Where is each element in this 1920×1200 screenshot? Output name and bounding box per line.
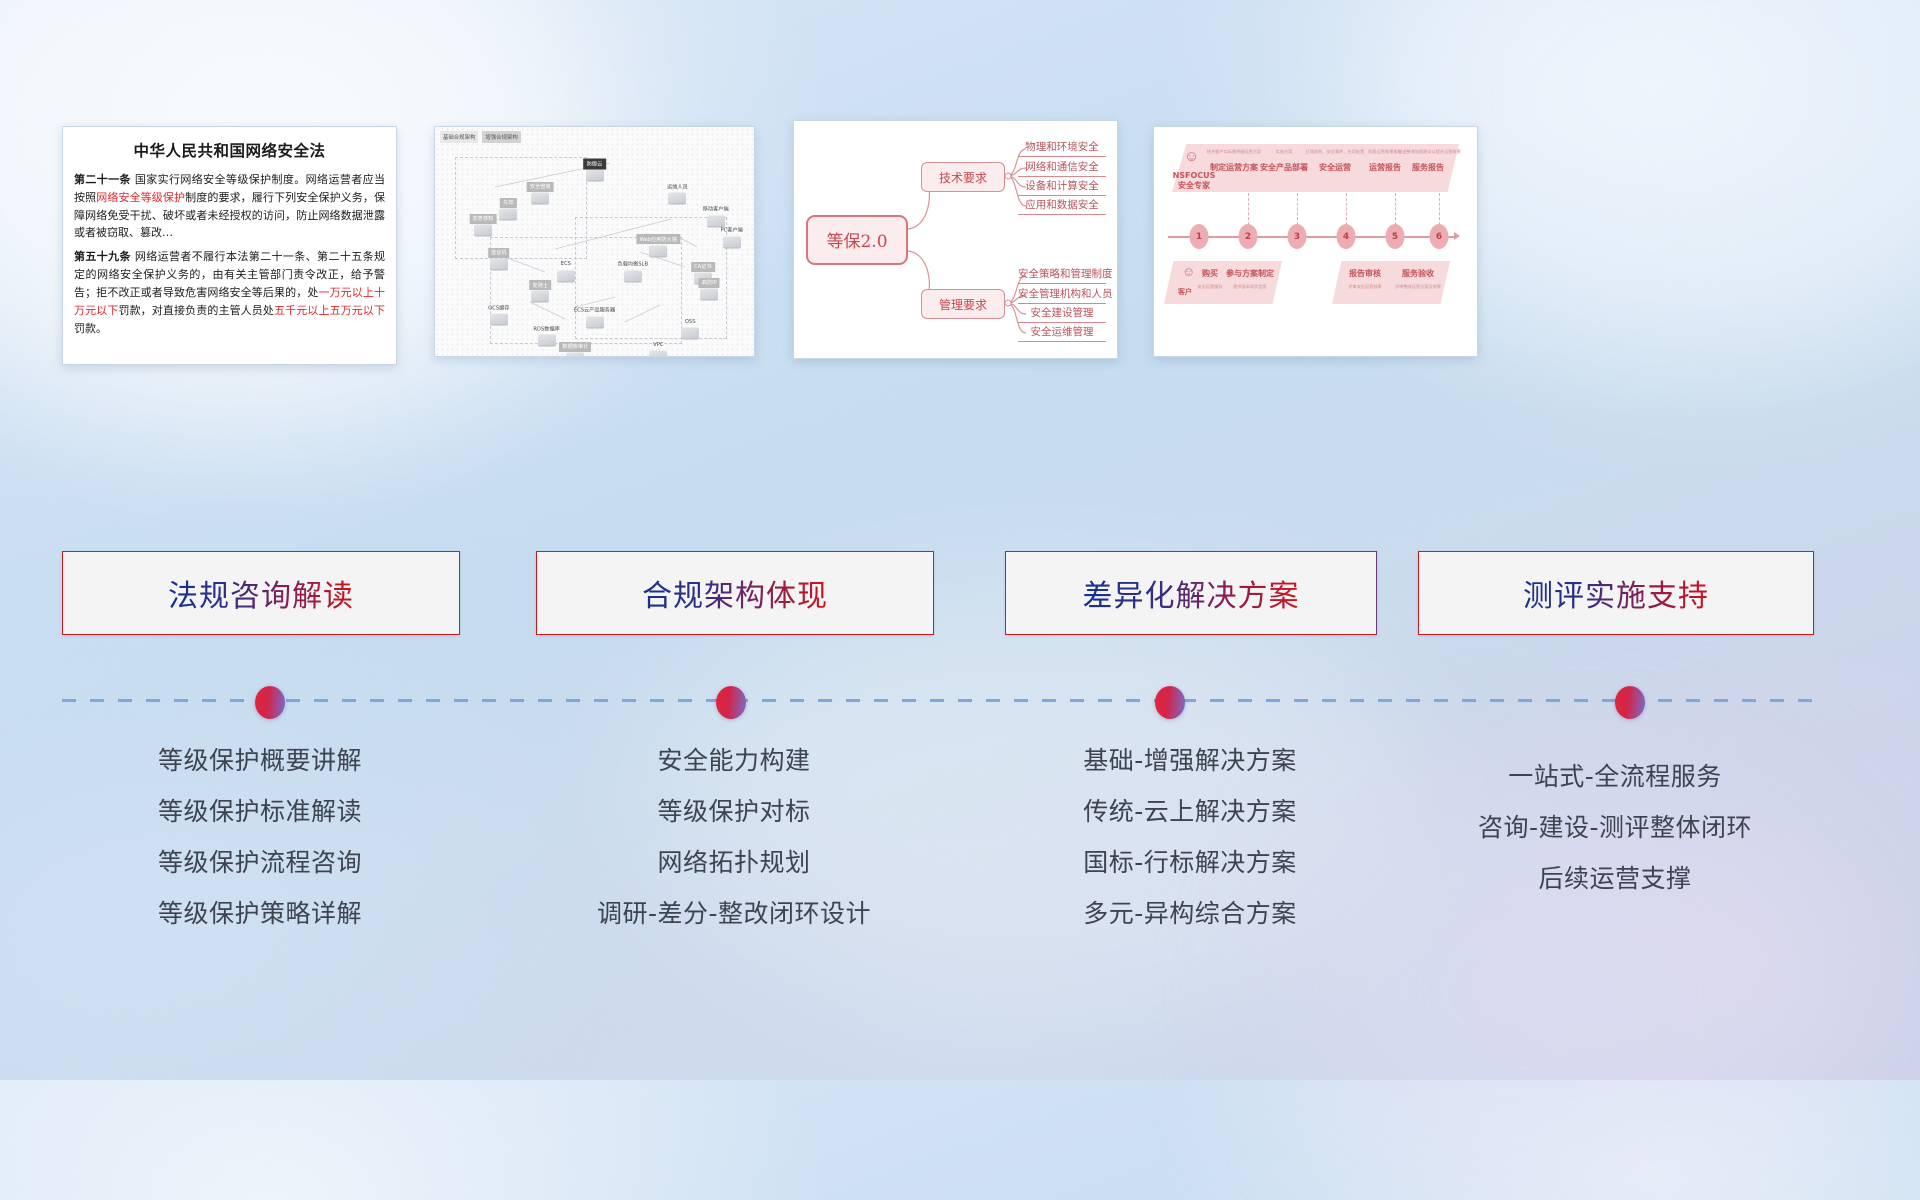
architecture-node-icon — [586, 316, 604, 327]
card-compliance-architecture: 基础合规架构 增强合规架构 防御云安全管家先知态势感知堡垒机ECS安骑士OCS缓… — [434, 126, 755, 357]
detail-list-item: 咨询-建设-测评整体闭环 — [1418, 802, 1812, 853]
process-step-sub: 提供基本现状信息 — [1220, 284, 1280, 290]
process-step-title: 参与方案制定 — [1220, 268, 1280, 279]
article-59-label: 第五十九条 — [74, 250, 131, 263]
mindmap-branch-management: 管理要求 — [921, 289, 1005, 319]
timeline-dot-4[interactable] — [1615, 686, 1645, 719]
detail-list-item: 等级保护标准解读 — [62, 786, 458, 837]
process-bottom-step: 报告审核评审安全运营效果 — [1335, 268, 1395, 290]
mindmap-leaf: 安全管理机构和人员 — [1018, 286, 1106, 304]
process-step-number: 2 — [1239, 224, 1258, 249]
detail-list-item: 一站式-全流程服务 — [1418, 751, 1812, 802]
architecture-node-label: 堡垒机 — [488, 248, 510, 258]
architecture-node-label: OSS — [685, 319, 696, 325]
detail-list-item: 安全能力构建 — [536, 735, 932, 786]
section-title-label: 法规咨询解读 — [168, 571, 354, 615]
article-21-highlight: 网络安全等级保护 — [96, 191, 185, 204]
process-step-stem — [1297, 193, 1299, 225]
mindmap-leaf: 网络和通信安全 — [1018, 159, 1106, 177]
mindmap-leaf: 安全建设管理 — [1018, 305, 1106, 323]
architecture-node-label: 安全管家 — [527, 182, 554, 192]
image-card-row: 中华人民共和国网络安全法 第二十一条 国家实行网络安全等级保护制度。网络运营者应… — [0, 0, 1920, 440]
architecture-node-label: 态势感知 — [469, 214, 496, 224]
tab-enhanced-architecture[interactable]: 增强合规架构 — [482, 131, 520, 143]
architecture-node-label: CA证书 — [691, 262, 715, 272]
process-step-title: 报告审核 — [1335, 268, 1395, 279]
mindmap-leaf: 设备和计算安全 — [1018, 178, 1106, 196]
section-title-label: 差异化解决方案 — [1083, 571, 1300, 615]
architecture-node-icon — [566, 353, 584, 357]
section-title-box-3[interactable]: 差异化解决方案 — [1005, 551, 1377, 635]
card-nsfocus-process: ☺ NSFOCUS 安全专家 结合客户实际需明确运营方案制定运营方案实施方案安全… — [1153, 126, 1478, 357]
architecture-node-label: ECS — [561, 261, 571, 267]
architecture-node-icon — [681, 328, 699, 339]
architecture-node-icon — [707, 215, 725, 226]
architecture-node-icon — [586, 170, 604, 181]
architecture-node-icon — [624, 270, 642, 281]
mindmap-leaf: 安全策略和管理制度 — [1018, 266, 1106, 284]
detail-list-4: 一站式-全流程服务咨询-建设-测评整体闭环后续运营支撑 — [1418, 751, 1812, 904]
architecture-node-icon — [474, 225, 492, 236]
process-step-sub: 评审整改运营方案及效果 — [1388, 284, 1448, 290]
architecture-node-label: 高防IP — [699, 278, 720, 288]
architecture-node-icon — [668, 192, 686, 203]
law-document: 中华人民共和国网络安全法 第二十一条 国家实行网络安全等级保护制度。网络运营者应… — [63, 127, 396, 364]
mindmap-leaf: 物理和环境安全 — [1018, 139, 1106, 157]
process-step-stem — [1346, 193, 1348, 225]
process-step-title: 服务验收 — [1388, 268, 1448, 279]
process-step-number: 4 — [1337, 224, 1356, 249]
section-title-box-1[interactable]: 法规咨询解读 — [62, 551, 460, 635]
timeline-dot-3[interactable] — [1155, 686, 1185, 719]
process-step-number: 3 — [1288, 224, 1307, 249]
process-step-title: 服务报告 — [1398, 162, 1458, 173]
architecture-node-label: Web应用防火墙 — [637, 234, 680, 244]
architecture-node-icon — [490, 259, 508, 270]
mindmap-root: 等保2.0 — [806, 215, 908, 265]
process-axis-arrow — [1454, 232, 1460, 240]
architecture-node-icon — [538, 334, 556, 345]
article-21-label: 第二十一条 — [74, 173, 131, 186]
architecture-node-label: RDS数据库 — [533, 325, 559, 332]
architecture-node-icon — [723, 236, 741, 247]
architecture-node-icon — [700, 289, 718, 300]
detail-list-item: 后续运营支撑 — [1418, 853, 1812, 904]
law-article-59: 第五十九条 网络运营者不履行本法第二十一条、第二十五条规定的网络安全保护义务的，… — [74, 248, 385, 337]
architecture-node-icon — [557, 270, 575, 281]
architecture-node-label: 数据库审计 — [559, 342, 591, 352]
process-step-sub: 评审安全运营效果 — [1335, 284, 1395, 290]
detail-list-item: 等级保护策略详解 — [62, 888, 458, 939]
process-axis — [1168, 236, 1456, 238]
architecture-node-label: 先知 — [500, 198, 516, 208]
process-top-step: 给出整改加固建议以提升运营效果服务报告 — [1398, 149, 1458, 173]
article-59-highlight-2: 五千元以上五万元以下 — [274, 304, 385, 317]
process-step-stem — [1439, 193, 1441, 225]
architecture-node-label: 负载均衡SLB — [618, 261, 649, 268]
detail-list-item: 等级保护概要讲解 — [62, 735, 458, 786]
mindmap-leaf: 应用和数据安全 — [1018, 197, 1106, 215]
detail-list-item: 传统-云上解决方案 — [1005, 786, 1375, 837]
law-title: 中华人民共和国网络安全法 — [74, 139, 385, 161]
architecture-tabs: 基础合规架构 增强合规架构 — [440, 131, 521, 143]
architecture-node-icon — [499, 209, 517, 220]
architecture-node-label: 防御云 — [583, 158, 607, 169]
detail-list-item: 多元-异构综合方案 — [1005, 888, 1375, 939]
article-59-mid: 罚款，对直接负责的主管人员处 — [118, 304, 274, 317]
detail-list-2: 安全能力构建等级保护对标网络拓扑规划调研-差分-整改闭环设计 — [536, 735, 932, 939]
process-step-number: 5 — [1386, 224, 1405, 249]
section-title-box-4[interactable]: 测评实施支持 — [1418, 551, 1814, 635]
detail-list-1: 等级保护概要讲解等级保护标准解读等级保护流程咨询等级保护策略详解 — [62, 735, 458, 939]
architecture-node-label: 运维人员 — [667, 183, 688, 190]
process-step-stem — [1395, 193, 1397, 225]
nsfocus-process-diagram: ☺ NSFOCUS 安全专家 结合客户实际需明确运营方案制定运营方案实施方案安全… — [1154, 127, 1477, 356]
section-title-box-2[interactable]: 合规架构体现 — [536, 551, 934, 635]
detail-list-item: 等级保护对标 — [536, 786, 932, 837]
detail-list-3: 基础-增强解决方案传统-云上解决方案国标-行标解决方案多元-异构综合方案 — [1005, 735, 1375, 939]
architecture-node-icon — [531, 291, 549, 302]
card-djcp-mindmap: 等保2.0 技术要求 管理要求 物理和环境安全 网络和通信安全 设备和计算安全 … — [793, 120, 1118, 359]
architecture-node-icon — [649, 351, 667, 358]
architecture-node-label: VPC — [653, 342, 663, 348]
section-title-label: 合规架构体现 — [642, 571, 828, 615]
detail-list-item: 调研-差分-整改闭环设计 — [536, 888, 932, 939]
timeline-dashed-line — [62, 699, 1819, 702]
mindmap: 等保2.0 技术要求 管理要求 物理和环境安全 网络和通信安全 设备和计算安全 … — [794, 121, 1117, 358]
timeline-dot-2[interactable] — [716, 686, 746, 719]
expert-person-icon: ☺ — [1184, 149, 1199, 164]
architecture-node-icon — [531, 192, 549, 203]
process-step-stem — [1248, 193, 1250, 225]
process-bottom-step: 参与方案制定提供基本现状信息 — [1220, 268, 1280, 290]
card-cybersecurity-law: 中华人民共和国网络安全法 第二十一条 国家实行网络安全等级保护制度。网络运营者应… — [62, 126, 397, 365]
nsfocus-brand: NSFOCUS 安全专家 — [1166, 171, 1222, 191]
nsfocus-brand-line2: 安全专家 — [1166, 180, 1222, 191]
tab-basic-architecture[interactable]: 基础合规架构 — [440, 131, 478, 143]
section-title-label: 测评实施支持 — [1523, 571, 1709, 615]
architecture-diagram: 基础合规架构 增强合规架构 防御云安全管家先知态势感知堡垒机ECS安骑士OCS缓… — [435, 127, 754, 356]
architecture-node-icon — [490, 314, 508, 325]
detail-list-item: 国标-行标解决方案 — [1005, 837, 1375, 888]
architecture-node-label: 安骑士 — [529, 280, 551, 290]
architecture-node-icon — [649, 245, 667, 256]
law-article-21: 第二十一条 国家实行网络安全等级保护制度。网络运营者应当按照网络安全等级保护制度… — [74, 171, 385, 242]
mindmap-leaf: 安全运维管理 — [1018, 324, 1106, 342]
mindmap-branch-technical: 技术要求 — [921, 162, 1005, 192]
detail-list-item: 网络拓扑规划 — [536, 837, 932, 888]
architecture-node-label: ECS云产品服务器 — [574, 307, 615, 314]
timeline-dot-1[interactable] — [255, 686, 285, 719]
architecture-node-label: OCS缓存 — [488, 304, 509, 311]
detail-list-item: 等级保护流程咨询 — [62, 837, 458, 888]
process-step-number: 1 — [1190, 224, 1209, 249]
process-step-number: 6 — [1430, 224, 1449, 249]
process-step-sub: 给出整改加固建议以提升运营效果 — [1398, 149, 1458, 155]
detail-list-item: 基础-增强解决方案 — [1005, 735, 1375, 786]
architecture-node-label: 移动客户端 — [703, 206, 729, 213]
process-bottom-step: 服务验收评审整改运营方案及效果 — [1388, 268, 1448, 290]
architecture-node-label: PC客户端 — [720, 227, 742, 234]
article-59-post: 罚款。 — [74, 322, 107, 335]
